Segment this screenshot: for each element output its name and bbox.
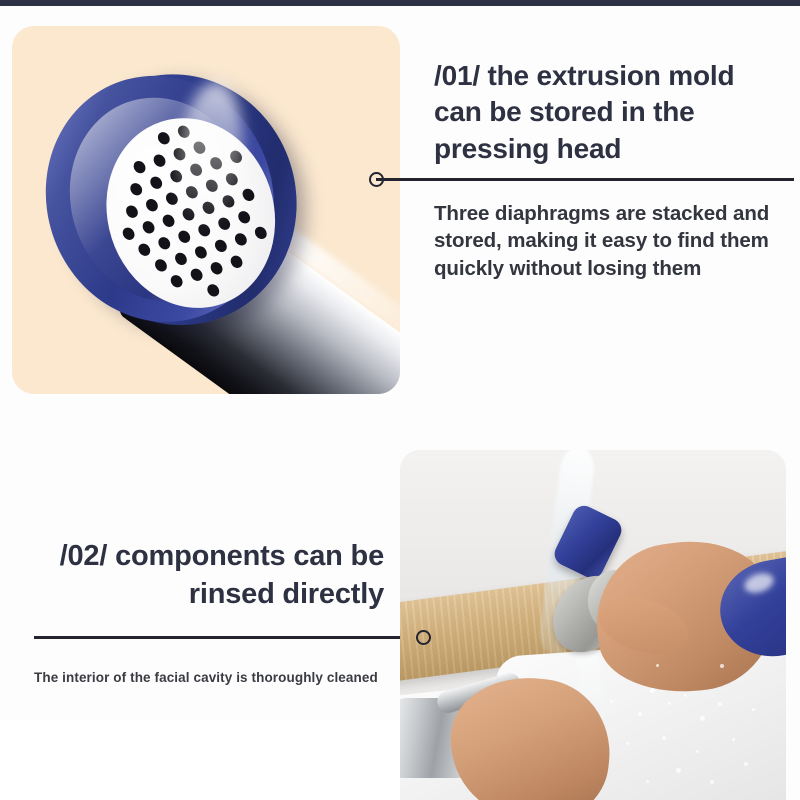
infographic-page: /01/ the extrusion mold can be stored in… [0, 0, 800, 800]
mesh-hole [205, 282, 222, 299]
circle-marker-icon-section-02 [416, 630, 431, 645]
water-droplet [662, 736, 666, 740]
top-accent-bar [0, 0, 800, 6]
water-droplet [656, 664, 659, 667]
circle-marker-icon-section-01 [369, 172, 384, 187]
mesh-hole [144, 197, 161, 214]
water-droplet [684, 694, 687, 697]
water-droplet [710, 780, 714, 784]
cap-rim [14, 46, 306, 352]
mesh-hole [140, 219, 157, 236]
water-droplet [646, 780, 649, 783]
water-droplet [732, 738, 735, 741]
mesh-hole [188, 266, 205, 283]
water-droplet [696, 750, 699, 753]
section-02-heading: /02/ components can be rinsed directly [34, 538, 384, 613]
mesh-hole [136, 241, 153, 258]
water-droplet [650, 688, 655, 693]
section-01-subtext: Three diaphragms are stacked and stored,… [434, 200, 788, 282]
connector-line-section-02 [34, 636, 424, 639]
mesh-hole [124, 203, 141, 220]
water-droplet [610, 700, 613, 703]
section-01-text-block: /01/ the extrusion mold can be stored in… [434, 58, 788, 167]
mesh-hole [160, 212, 177, 229]
mesh-hole [156, 235, 173, 252]
water-droplet [638, 712, 642, 716]
mesh-hole [233, 231, 250, 248]
mesh-hole [236, 209, 253, 226]
mesh-hole [155, 130, 172, 147]
mesh-hole [173, 250, 190, 267]
mesh-hole [168, 273, 185, 290]
mesh-hole [176, 228, 193, 245]
mesh-hole [151, 152, 168, 169]
product-photo-pressing-head [12, 26, 400, 394]
connector-line-section-01 [376, 178, 794, 181]
mesh-hole [148, 174, 165, 191]
section-02-text-block: /02/ components can be rinsed directly [34, 538, 384, 613]
product-photo-rinsing [400, 450, 786, 800]
mesh-hole [252, 224, 269, 241]
water-droplet [626, 742, 629, 745]
mesh-hole [131, 159, 148, 176]
mesh-hole [128, 181, 145, 198]
mesh-hole [213, 237, 230, 254]
water-droplet [720, 664, 724, 668]
mesh-hole [240, 186, 257, 203]
mesh-hole [193, 244, 210, 261]
bottom-white-area [0, 720, 400, 800]
water-droplet [668, 702, 671, 705]
section-01-heading: /01/ the extrusion mold can be stored in… [434, 58, 788, 167]
section-02-subtext: The interior of the facial cavity is tho… [34, 670, 384, 685]
mesh-hole [153, 257, 170, 274]
water-droplet [744, 762, 748, 766]
water-droplet [700, 716, 705, 721]
mesh-hole [228, 253, 245, 270]
mesh-hole [120, 225, 137, 242]
mesh-hole [164, 190, 181, 207]
water-droplet [676, 768, 681, 773]
water-droplet [718, 702, 722, 706]
water-droplet [752, 708, 755, 711]
mesh-hole [208, 260, 225, 277]
